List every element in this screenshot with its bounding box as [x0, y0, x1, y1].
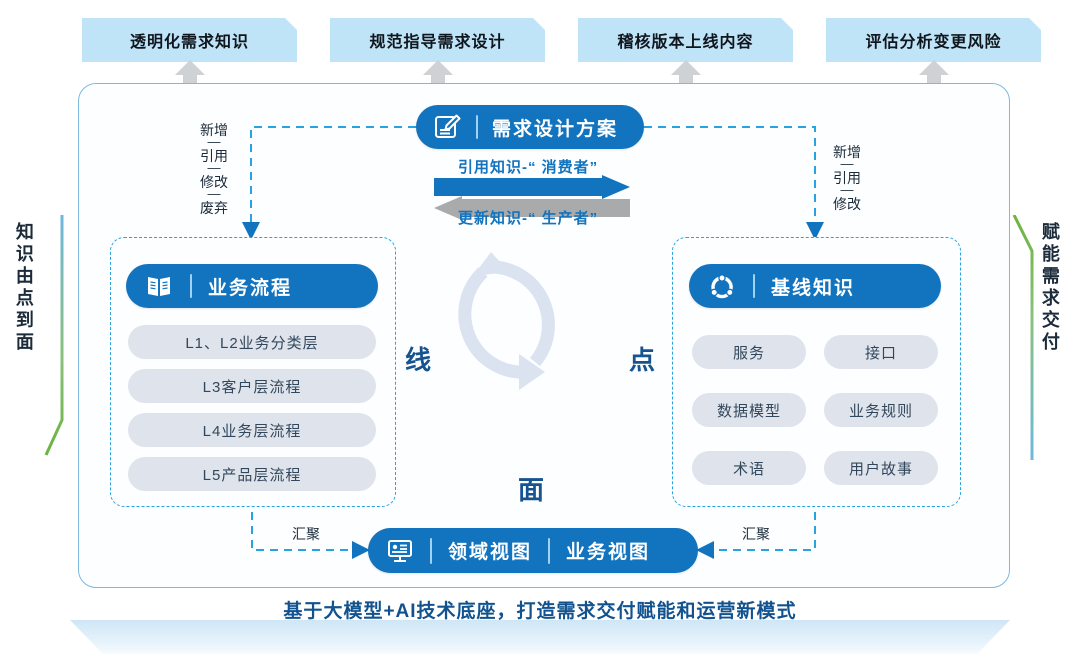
baseline-item-3[interactable]: 业务规则 [824, 393, 938, 427]
document-edit-icon [432, 112, 462, 142]
view-bar[interactable]: 领域视图 业务视图 [368, 528, 698, 573]
caption-prefix: 基于 [283, 601, 323, 622]
pill-divider [476, 115, 478, 139]
aggregate-label-left: 汇聚 [292, 524, 320, 544]
pill-divider [753, 274, 755, 298]
right-connector-stack: 新增 — 引用 — 修改 [833, 145, 861, 211]
left-connector-stack: 新增 — 引用 — 修改 — 废弃 [200, 123, 228, 215]
aggregate-label-right: 汇聚 [742, 524, 770, 544]
caption: 基于大模型+AI技术底座，打造需求交付赋能和运营新模式 [0, 596, 1080, 623]
center-glyph-line: 线 [405, 340, 431, 377]
requirement-design-plan-pill[interactable]: 需求设计方案 [416, 105, 644, 149]
process-item-2[interactable]: L4业务层流程 [128, 413, 376, 447]
process-panel-header[interactable]: 业务流程 [126, 264, 378, 308]
process-panel-title: 业务流程 [208, 273, 292, 300]
base-platform-shape [70, 620, 1010, 654]
left-connector-item-3: 废弃 [200, 201, 228, 215]
baseline-item-2[interactable]: 数据模型 [692, 393, 806, 427]
caption-suffix: +AI技术底座，打造需求交付赋能和运营新模式 [383, 601, 796, 622]
baseline-item-5[interactable]: 用户故事 [824, 451, 938, 485]
cycle-arrows [445, 250, 620, 470]
right-connector-item-2: 修改 [833, 197, 861, 211]
open-book-icon [144, 271, 174, 301]
caption-strong: 大模型 [323, 601, 383, 622]
baseline-item-4[interactable]: 术语 [692, 451, 806, 485]
baseline-panel-header[interactable]: 基线知识 [689, 264, 941, 308]
pill-divider [190, 274, 192, 298]
baseline-panel-title: 基线知识 [771, 273, 855, 300]
view-bar-label-b: 业务视图 [566, 537, 650, 564]
plan-title: 需求设计方案 [492, 114, 618, 141]
process-item-3[interactable]: L5产品层流程 [128, 457, 376, 491]
consumer-flow-label: 引用知识-“ 消费者” [458, 156, 598, 177]
process-item-0[interactable]: L1、L2业务分类层 [128, 325, 376, 359]
producer-flow-label: 更新知识-“ 生产者” [458, 207, 598, 228]
presentation-board-icon [386, 537, 414, 565]
center-glyph-point: 点 [629, 340, 655, 377]
baseline-item-0[interactable]: 服务 [692, 335, 806, 369]
baseline-item-1[interactable]: 接口 [824, 335, 938, 369]
pill-divider [430, 538, 432, 564]
center-glyph-plane: 面 [518, 470, 544, 507]
process-item-1[interactable]: L3客户层流程 [128, 369, 376, 403]
view-bar-label-a: 领域视图 [448, 537, 532, 564]
pill-divider [548, 538, 550, 564]
node-network-icon [707, 271, 737, 301]
diagram-canvas: 透明化需求知识 规范指导需求设计 稽核版本上线内容 评估分析变更风险 知识由点到… [0, 0, 1080, 664]
